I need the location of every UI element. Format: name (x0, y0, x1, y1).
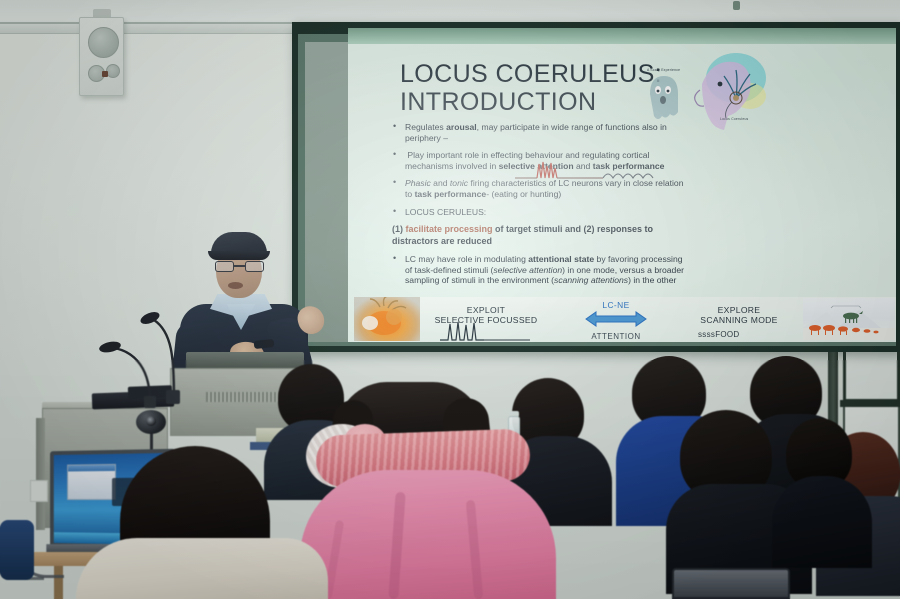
desk-small-box (30, 480, 48, 502)
camera-lens-icon (146, 416, 156, 426)
bullet-locus-ceruleus: LOCUS CERULEUS: (392, 207, 692, 218)
emphasis-facilitate: (1) facilitate processing of target stim… (392, 224, 692, 247)
laptop-window-titlebar (68, 465, 115, 472)
eyeglass-lens-right (245, 261, 264, 272)
cartoon-label-locus: Locus Coeruleus (720, 117, 748, 121)
blue-chair (0, 520, 34, 580)
speaker-woofer-icon (88, 27, 119, 58)
gooseneck-microphone-right[interactable] (98, 306, 208, 406)
elk-deer-photo (354, 297, 420, 341)
cartoon-label-scary: A Scary Experience (647, 68, 680, 72)
speaker-tweeter-icon (106, 64, 120, 78)
person-shoulders (772, 476, 872, 568)
presenter-mouth (228, 282, 243, 289)
spike-burst-icon (440, 320, 530, 342)
av-console-side (36, 418, 45, 530)
emphasis-highlight: facilitate processing (406, 224, 493, 234)
foreground-person-white-coat (76, 538, 328, 599)
phasic-tonic-waveform-icon (515, 160, 675, 186)
eyeglass-lens-left (215, 261, 234, 272)
slide-bullet-list: Regulates arousal, may participate in wi… (392, 122, 692, 293)
strip-label-lcne: LC-NE (572, 300, 660, 310)
strip-label-attention: ATTENTION (570, 332, 662, 341)
lecture-hall-screenshot: LOCUS COERULEUS: INTRODUCTION A Scary Ex… (0, 0, 900, 599)
presenter-cap-brim (208, 251, 270, 260)
laptop-window[interactable] (67, 464, 116, 500)
speaker-led-icon (102, 71, 108, 77)
whiteboard-tray (840, 400, 900, 407)
presentation-slide: LOCUS COERULEUS: INTRODUCTION A Scary Ex… (348, 44, 896, 342)
strip-label-explore: EXPLORE SCANNING MODE (678, 306, 800, 325)
strip-label-food: ssssFOOD (698, 330, 778, 339)
exploit-line1: EXPLOIT (467, 305, 505, 315)
audience-laptop[interactable] (672, 568, 790, 599)
explore-line1: EXPLORE (718, 305, 761, 315)
bullet-arousal: Regulates arousal, may participate in wi… (392, 122, 692, 143)
slide-title-line1: LOCUS COERULEUS: (400, 60, 662, 88)
ceiling-fixture-icon (733, 1, 740, 10)
savanna-herd-photo (803, 298, 895, 340)
bullet-modulating: LC may have role in modulating attention… (392, 254, 692, 286)
explore-line2: SCANNING MODE (700, 315, 777, 325)
presenter-eyeglasses (215, 261, 264, 272)
eyeglass-bridge (234, 265, 245, 267)
wall-speaker (79, 17, 124, 96)
bidirectional-arrow-icon (576, 310, 656, 328)
